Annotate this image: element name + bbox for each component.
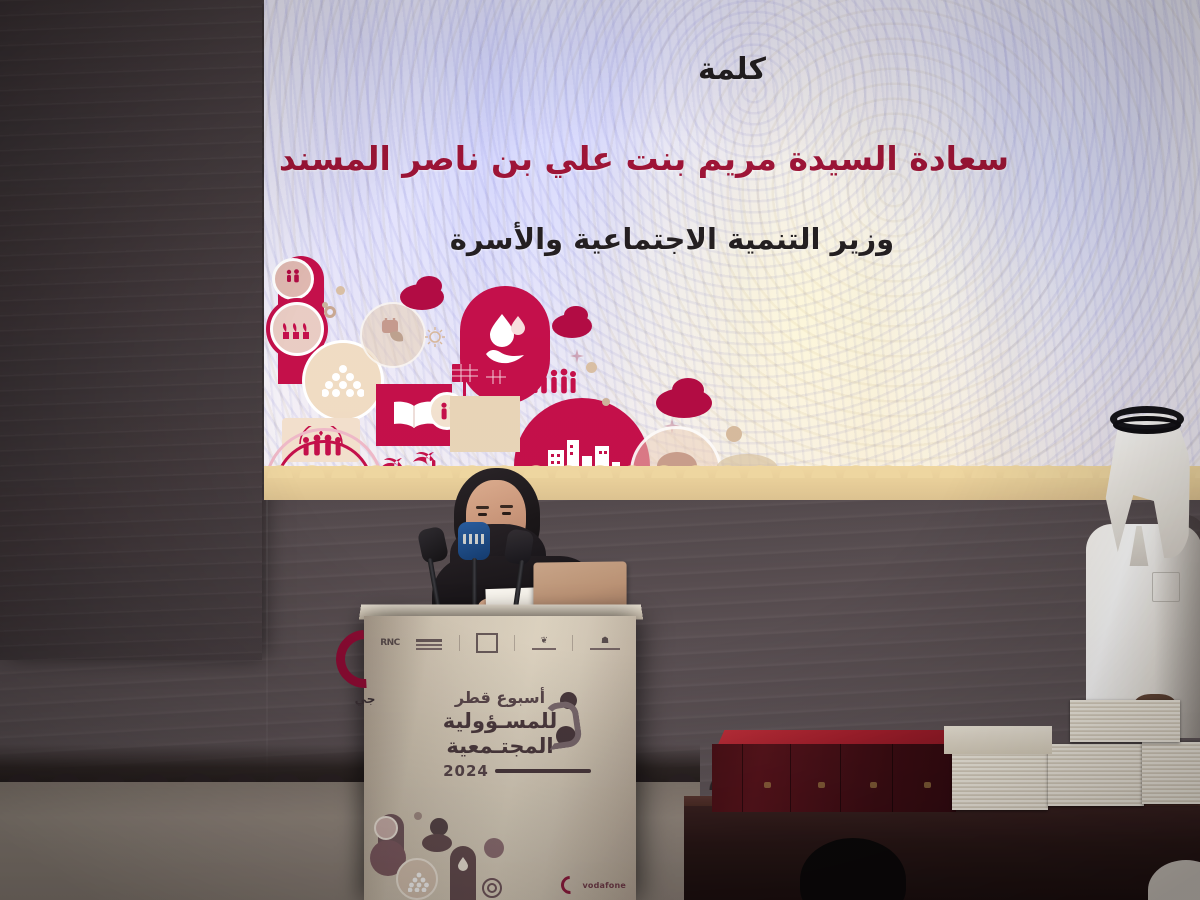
illus-cloud-2b (564, 306, 588, 324)
logo-stroke (543, 700, 583, 750)
logo-divider-2 (514, 635, 515, 651)
crowd-icon (530, 368, 578, 394)
award-box-clasp-4 (924, 782, 931, 788)
award-box-seam-3 (840, 744, 841, 812)
mic-flag-center (463, 534, 485, 544)
award-box-seam-4 (892, 744, 893, 812)
illus-cloud-3b (672, 378, 704, 402)
certificate-stack-5 (944, 726, 1052, 754)
screen-wave-scallops (264, 454, 1200, 478)
sponsor-logo-4: ❦ (532, 636, 556, 650)
award-box-seam-2 (790, 744, 791, 812)
event-year-rule (495, 769, 591, 773)
certificate-stack-2 (1048, 744, 1144, 806)
logo-divider-1 (459, 635, 460, 651)
brow-right (500, 505, 513, 508)
event-logo-mark (534, 692, 580, 746)
illus-dot-5 (726, 426, 742, 442)
award-box-clasp-3 (870, 782, 877, 788)
certificate-stack-3 (1142, 742, 1200, 804)
certificate-stack-4 (1070, 700, 1180, 742)
award-box-seam-1 (742, 744, 743, 812)
sun-icon (424, 326, 446, 348)
podium-illus-column-2 (450, 846, 476, 900)
mic-windscreen-center (458, 522, 490, 560)
podium-sponsor-logo-strip: RNC ❦ ☗ (372, 628, 628, 658)
illus-ring-dot (324, 306, 336, 318)
award-boxes (712, 730, 956, 812)
award-boxes-face (712, 744, 956, 812)
mic-windscreen-left (417, 526, 450, 565)
agal-inner (1113, 416, 1181, 434)
illus-dot-4 (602, 398, 610, 406)
podium-illus-blob-1 (422, 834, 452, 852)
vodafone-wordmark: vodafone (582, 881, 626, 890)
solar-panel-icon (450, 362, 516, 400)
podium-illus-dot-2 (414, 812, 422, 820)
slide-line-1: كلمة (264, 52, 1200, 87)
podium-illus-circle-1 (374, 816, 398, 840)
sparkle-icon-1 (570, 348, 584, 362)
event-title-line1: أسبوع قطر (364, 688, 636, 707)
award-box-clasp-2 (818, 782, 825, 788)
family-icon (284, 268, 302, 282)
projection-screen: كلمة سعادة السيدة مريم بنت علي بن ناصر ا… (264, 0, 1200, 500)
podium-drop-icon (454, 856, 472, 872)
thobe-pocket (1152, 572, 1180, 602)
certificate-stack-1 (952, 752, 1048, 810)
award-box-clasp-1 (764, 782, 771, 788)
illus-dot-1 (336, 286, 345, 295)
vodafone-speechmark-icon-small (558, 872, 583, 897)
podium-illustration: vodafone (364, 804, 636, 900)
slide-line-2: سعادة السيدة مريم بنت علي بن ناصر المسند (264, 139, 1112, 178)
eye-right (502, 512, 511, 515)
logo-divider-3 (572, 635, 573, 651)
man-in-thobe (1080, 404, 1200, 734)
photo-scene: كلمة سعادة السيدة مريم بنت علي بن ناصر ا… (0, 0, 1200, 900)
vodafone-logo-left: جي (336, 630, 394, 696)
eye-left (478, 513, 487, 516)
illus-cloud-1b (416, 276, 442, 296)
illus-sand-block (450, 396, 520, 452)
wall-left-panel (0, 0, 262, 660)
event-year-row: 2024 (364, 762, 636, 780)
podium-gears-icon (476, 870, 508, 900)
event-year: 2024 (443, 762, 489, 780)
podium: RNC ❦ ☗ جي (364, 616, 636, 900)
vodafone-logo-bottom: vodafone (561, 876, 626, 894)
brow-left (476, 506, 489, 509)
sponsor-logo-2 (416, 637, 442, 650)
pyramid-icon (322, 364, 364, 398)
podium-illus-dot-3 (484, 838, 504, 858)
plug-leaf-icon (376, 316, 412, 350)
event-title-line2: للمسـؤولية (364, 709, 636, 733)
event-title-line3: المجتـمعية (364, 734, 636, 758)
illus-dot-3 (586, 362, 597, 373)
sponsor-logo-3 (476, 633, 498, 653)
award-table (684, 806, 1200, 900)
event-branding: أسبوع قطر للمسـؤولية المجتـمعية 2024 (364, 688, 636, 780)
sponsor-logo-5: ☗ (590, 636, 620, 650)
podium-pyramid-icon (408, 872, 430, 892)
crops-icon (280, 318, 314, 340)
